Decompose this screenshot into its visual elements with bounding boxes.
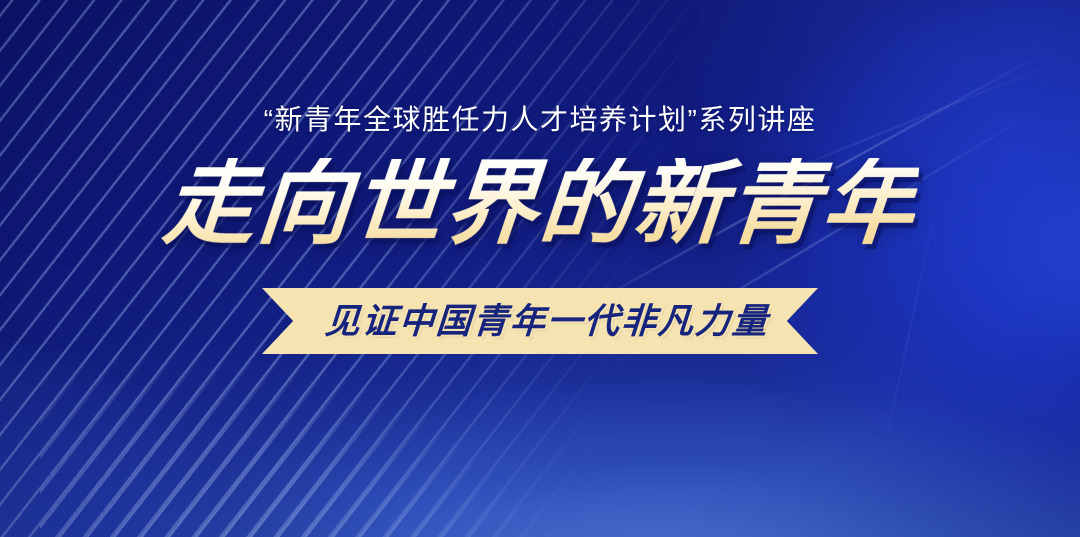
banner-title: 走向世界的新青年 [160, 158, 920, 250]
banner-subtitle: “新青年全球胜任力人才培养计划”系列讲座 [264, 106, 817, 134]
tagline-ribbon: 见证中国青年一代非凡力量 [262, 288, 818, 354]
promo-banner: “新青年全球胜任力人才培养计划”系列讲座 走向世界的新青年 见证中国青年一代非凡… [0, 0, 1080, 537]
tagline-text: 见证中国青年一代非凡力量 [310, 304, 770, 339]
banner-content: “新青年全球胜任力人才培养计划”系列讲座 走向世界的新青年 见证中国青年一代非凡… [0, 0, 1080, 537]
tagline-ribbon-body: 见证中国青年一代非凡力量 [262, 288, 818, 354]
